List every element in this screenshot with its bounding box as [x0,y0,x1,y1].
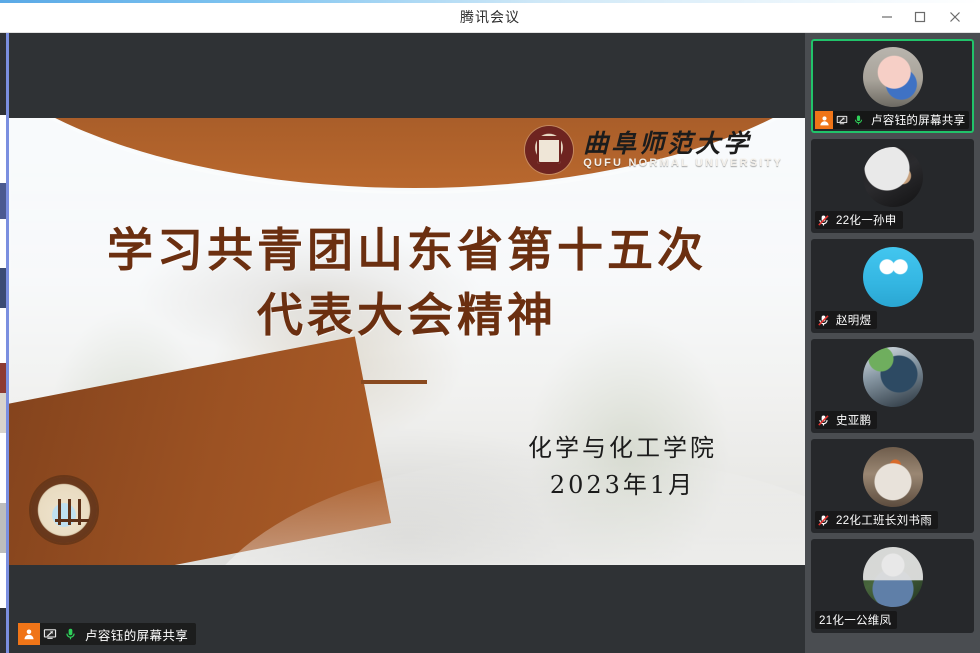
presenter-name: 卢容钰的屏幕共享 [80,625,188,644]
avatar [863,347,923,407]
participant-label: 21化一公维凤 [815,611,897,629]
participant-label: 卢容钰的屏幕共享 [815,111,969,129]
screen-share-glyph [836,114,848,126]
participant-label: 赵明煜 [815,311,877,329]
host-person-icon [819,115,830,126]
participant-label: 22化工班长刘书雨 [815,511,938,529]
avatar [863,47,923,107]
close-icon [949,11,961,23]
participant-tile[interactable]: 赵明煜 [811,239,974,333]
participant-name: 22化一孙申 [832,212,897,228]
college-emblem-inner [39,485,89,535]
host-person-icon [23,628,35,640]
host-badge [815,111,833,129]
slide-title-line-2: 代表大会精神 [9,283,805,348]
participant-name: 22化工班长刘书雨 [832,512,932,528]
participant-tile[interactable]: 22化一孙申 [811,139,974,233]
slide-title-line-1: 学习共青团山东省第十五次 [9,218,805,283]
app-title: 腾讯会议 [0,0,980,33]
university-crest-icon [525,126,573,174]
slide-title: 学习共青团山东省第十五次 代表大会精神 [9,218,805,349]
participant-label: 22化一孙申 [815,211,903,229]
slide-date: 2023年1月 [528,467,717,504]
microphone-icon [850,111,867,129]
participant-tile[interactable]: 22化工班长刘书雨 [811,439,974,533]
microphone-muted-icon [815,511,832,529]
participant-name: 赵明煜 [832,312,871,328]
maximize-button[interactable] [905,3,935,30]
university-name-block: 曲阜师范大学 QUFU NORMAL UNIVERSITY [583,131,783,169]
university-logo: 曲阜师范大学 QUFU NORMAL UNIVERSITY [525,126,783,174]
screen-share-icon [40,623,60,645]
meeting-content: 曲阜师范大学 QUFU NORMAL UNIVERSITY 学习共青团山东省第十… [0,33,980,653]
microphone-muted-icon [815,211,832,229]
microphone-muted-glyph [817,314,830,327]
slide-department: 化学与化工学院 [528,430,717,467]
participant-tile[interactable]: 卢容钰的屏幕共享 [811,39,974,133]
tencent-meeting-window: 腾讯会议 [0,0,980,653]
participant-sidebar[interactable]: 卢容钰的屏幕共享 22化一孙申 [805,33,980,653]
microphone-muted-glyph [817,514,830,527]
college-emblem-glyph [55,499,89,525]
shared-screen-stage[interactable]: 曲阜师范大学 QUFU NORMAL UNIVERSITY 学习共青团山东省第十… [9,33,805,653]
screen-share-glyph [43,627,57,641]
presentation-slide: 曲阜师范大学 QUFU NORMAL UNIVERSITY 学习共青团山东省第十… [9,118,805,565]
microphone-muted-icon [815,311,832,329]
participant-name: 史亚鹏 [832,412,871,428]
stage-presenter-label: 卢容钰的屏幕共享 [18,623,196,645]
university-crest-marks [541,148,557,160]
university-name-cn: 曲阜师范大学 [583,131,783,156]
slide-meta: 化学与化工学院 2023年1月 [528,430,717,504]
avatar [863,547,923,607]
microphone-glyph [64,627,77,641]
title-bar: 腾讯会议 [0,0,980,33]
maximize-icon [914,11,926,23]
microphone-icon [60,623,80,645]
microphone-glyph [853,114,864,126]
microphone-muted-glyph [817,414,830,427]
avatar [863,447,923,507]
close-button[interactable] [940,3,970,30]
participant-label: 史亚鹏 [815,411,877,429]
avatar [863,147,923,207]
college-emblem-icon [31,477,97,543]
avatar [863,247,923,307]
minimize-button[interactable] [872,3,902,30]
minimize-icon [881,11,893,23]
slide-title-divider [361,380,427,384]
microphone-muted-glyph [817,214,830,227]
participant-name: 卢容钰的屏幕共享 [867,112,965,128]
university-name-en: QUFU NORMAL UNIVERSITY [583,158,783,169]
screen-share-icon [833,111,850,129]
microphone-muted-icon [815,411,832,429]
participant-name: 21化一公维凤 [815,612,891,628]
participant-tile[interactable]: 史亚鹏 [811,339,974,433]
host-badge [18,623,40,645]
participant-tile[interactable]: 21化一公维凤 [811,539,974,633]
